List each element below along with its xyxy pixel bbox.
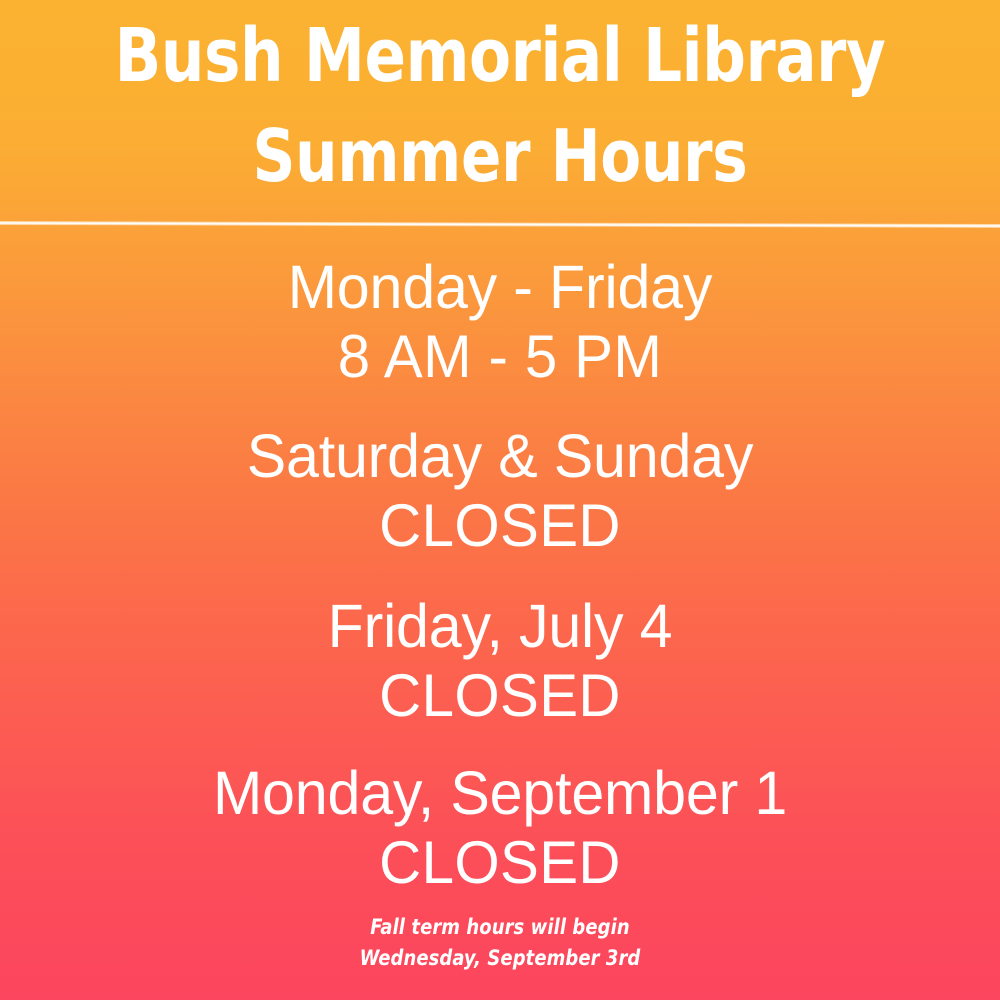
poster-footer: Fall term hours will begin Wednesday, Se… [0, 912, 1000, 974]
schedule-entry-weekend: Saturday & Sunday CLOSED [0, 421, 1000, 561]
schedule-entry-labor-day: Monday, September 1 CLOSED [0, 758, 1000, 898]
schedule-hours-value: CLOSED [15, 491, 985, 561]
schedule-hours-value: CLOSED [15, 661, 985, 731]
schedule-entry-weekday: Monday - Friday 8 AM - 5 PM [0, 252, 1000, 392]
poster-title: Bush Memorial Library [40, 14, 960, 98]
schedule-day-label: Friday, July 4 [15, 591, 985, 661]
schedule-entry-july-fourth: Friday, July 4 CLOSED [0, 591, 1000, 731]
schedule-day-label: Saturday & Sunday [15, 421, 985, 491]
poster-header: Bush Memorial Library Summer Hours [0, 0, 1000, 222]
schedule-hours-value: 8 AM - 5 PM [15, 322, 985, 392]
footer-note-line-1: Fall term hours will begin [25, 912, 975, 943]
footer-note-line-2: Wednesday, September 3rd [25, 943, 975, 974]
schedule-hours-value: CLOSED [15, 828, 985, 898]
schedule-day-label: Monday - Friday [15, 252, 985, 322]
poster-subtitle: Summer Hours [40, 115, 960, 197]
schedule-day-label: Monday, September 1 [15, 758, 985, 828]
library-hours-poster: Bush Memorial Library Summer Hours Monda… [0, 0, 1000, 1000]
header-divider [0, 221, 1000, 228]
